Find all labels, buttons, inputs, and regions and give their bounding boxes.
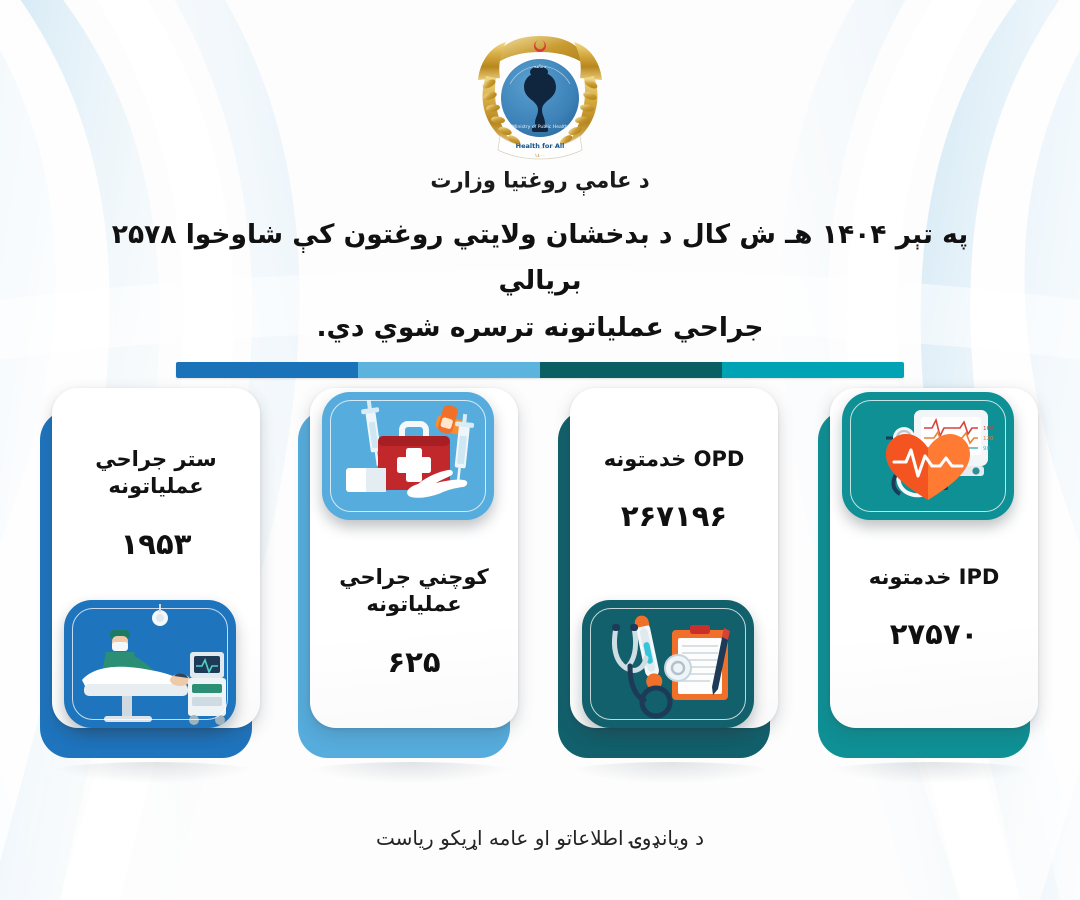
headline: په تېر ۱۴۰۴ هـ ش کال د بدخشان ولايتي روغ…	[70, 212, 1010, 351]
headline-line-1: په تېر ۱۴۰۴ هـ ش کال د بدخشان ولايتي روغ…	[70, 212, 1010, 305]
card-text-block: کوچني جراحي عملياتونه ۶۲۵	[310, 564, 518, 679]
header-emblem-block: دعامه Ministry of Public Health Health f…	[0, 24, 1080, 192]
operating-room-surgeon-icon	[64, 600, 236, 728]
card-text-block: OPD خدمتونه ۲۶۷۱۹۶	[570, 446, 778, 533]
card-text-block: ستر جراحي عملياتونه ۱۹۵۳	[52, 446, 260, 561]
card-value: ۱۹۵۳	[52, 527, 260, 561]
card-ground-shadow	[304, 762, 518, 784]
stat-card-ipd[interactable]: 160 120 98	[818, 388, 1040, 760]
badge-inner-outline	[72, 608, 228, 720]
heart-ecg-monitor-icon: 160 120 98	[842, 392, 1014, 520]
card-ground-shadow	[46, 762, 260, 784]
card-label: OPD خدمتونه	[570, 446, 778, 473]
svg-text:Ministry of Public Health: Ministry of Public Health	[512, 124, 568, 130]
color-divider-bar	[176, 362, 904, 378]
card-ground-shadow	[564, 762, 778, 784]
svg-text:١٤٠٠: ١٤٠٠	[535, 153, 546, 159]
stat-cards-row: 160 120 98	[0, 388, 1080, 788]
svg-text:دعامه: دعامه	[534, 64, 546, 70]
svg-text:Health for All: Health for All	[516, 142, 565, 150]
headline-line-2: جراحي عملياتونه ترسره شوي دي.	[70, 305, 1010, 351]
badge-inner-outline	[850, 400, 1006, 512]
card-value: ۲۷۵۷۰	[830, 617, 1038, 651]
card-text-block: IPD خدمتونه ۲۷۵۷۰	[830, 564, 1038, 651]
stat-card-major-surgery[interactable]: ستر جراحي عملياتونه ۱۹۵۳	[40, 388, 262, 760]
card-label: ستر جراحي عملياتونه	[52, 446, 260, 501]
stat-card-minor-surgery[interactable]: کوچني جراحي عملياتونه ۶۲۵	[298, 388, 520, 760]
first-aid-kit-syringe-icon	[322, 392, 494, 520]
badge-inner-outline	[590, 608, 746, 720]
ministry-emblem-icon: دعامه Ministry of Public Health Health f…	[470, 24, 610, 164]
stat-card-opd[interactable]: OPD خدمتونه ۲۶۷۱۹۶	[558, 388, 780, 760]
divider-segment-4	[176, 362, 358, 378]
divider-segment-2	[540, 362, 722, 378]
stethoscope-clipboard-thermometer-icon	[582, 600, 754, 728]
divider-segment-3	[358, 362, 540, 378]
infographic-poster: دعامه Ministry of Public Health Health f…	[0, 0, 1080, 900]
card-label: IPD خدمتونه	[830, 564, 1038, 591]
card-label: کوچني جراحي عملياتونه	[310, 564, 518, 619]
badge-inner-outline	[330, 400, 486, 512]
card-value: ۶۲۵	[310, 645, 518, 679]
footer-directorate: د ويانډوۍ اطلاعاتو او عامه اړيکو رياست	[0, 826, 1080, 850]
divider-segment-1	[722, 362, 904, 378]
ministry-title: د عامې روغتيا وزارت	[430, 167, 649, 192]
card-ground-shadow	[824, 762, 1038, 784]
card-value: ۲۶۷۱۹۶	[570, 499, 778, 533]
